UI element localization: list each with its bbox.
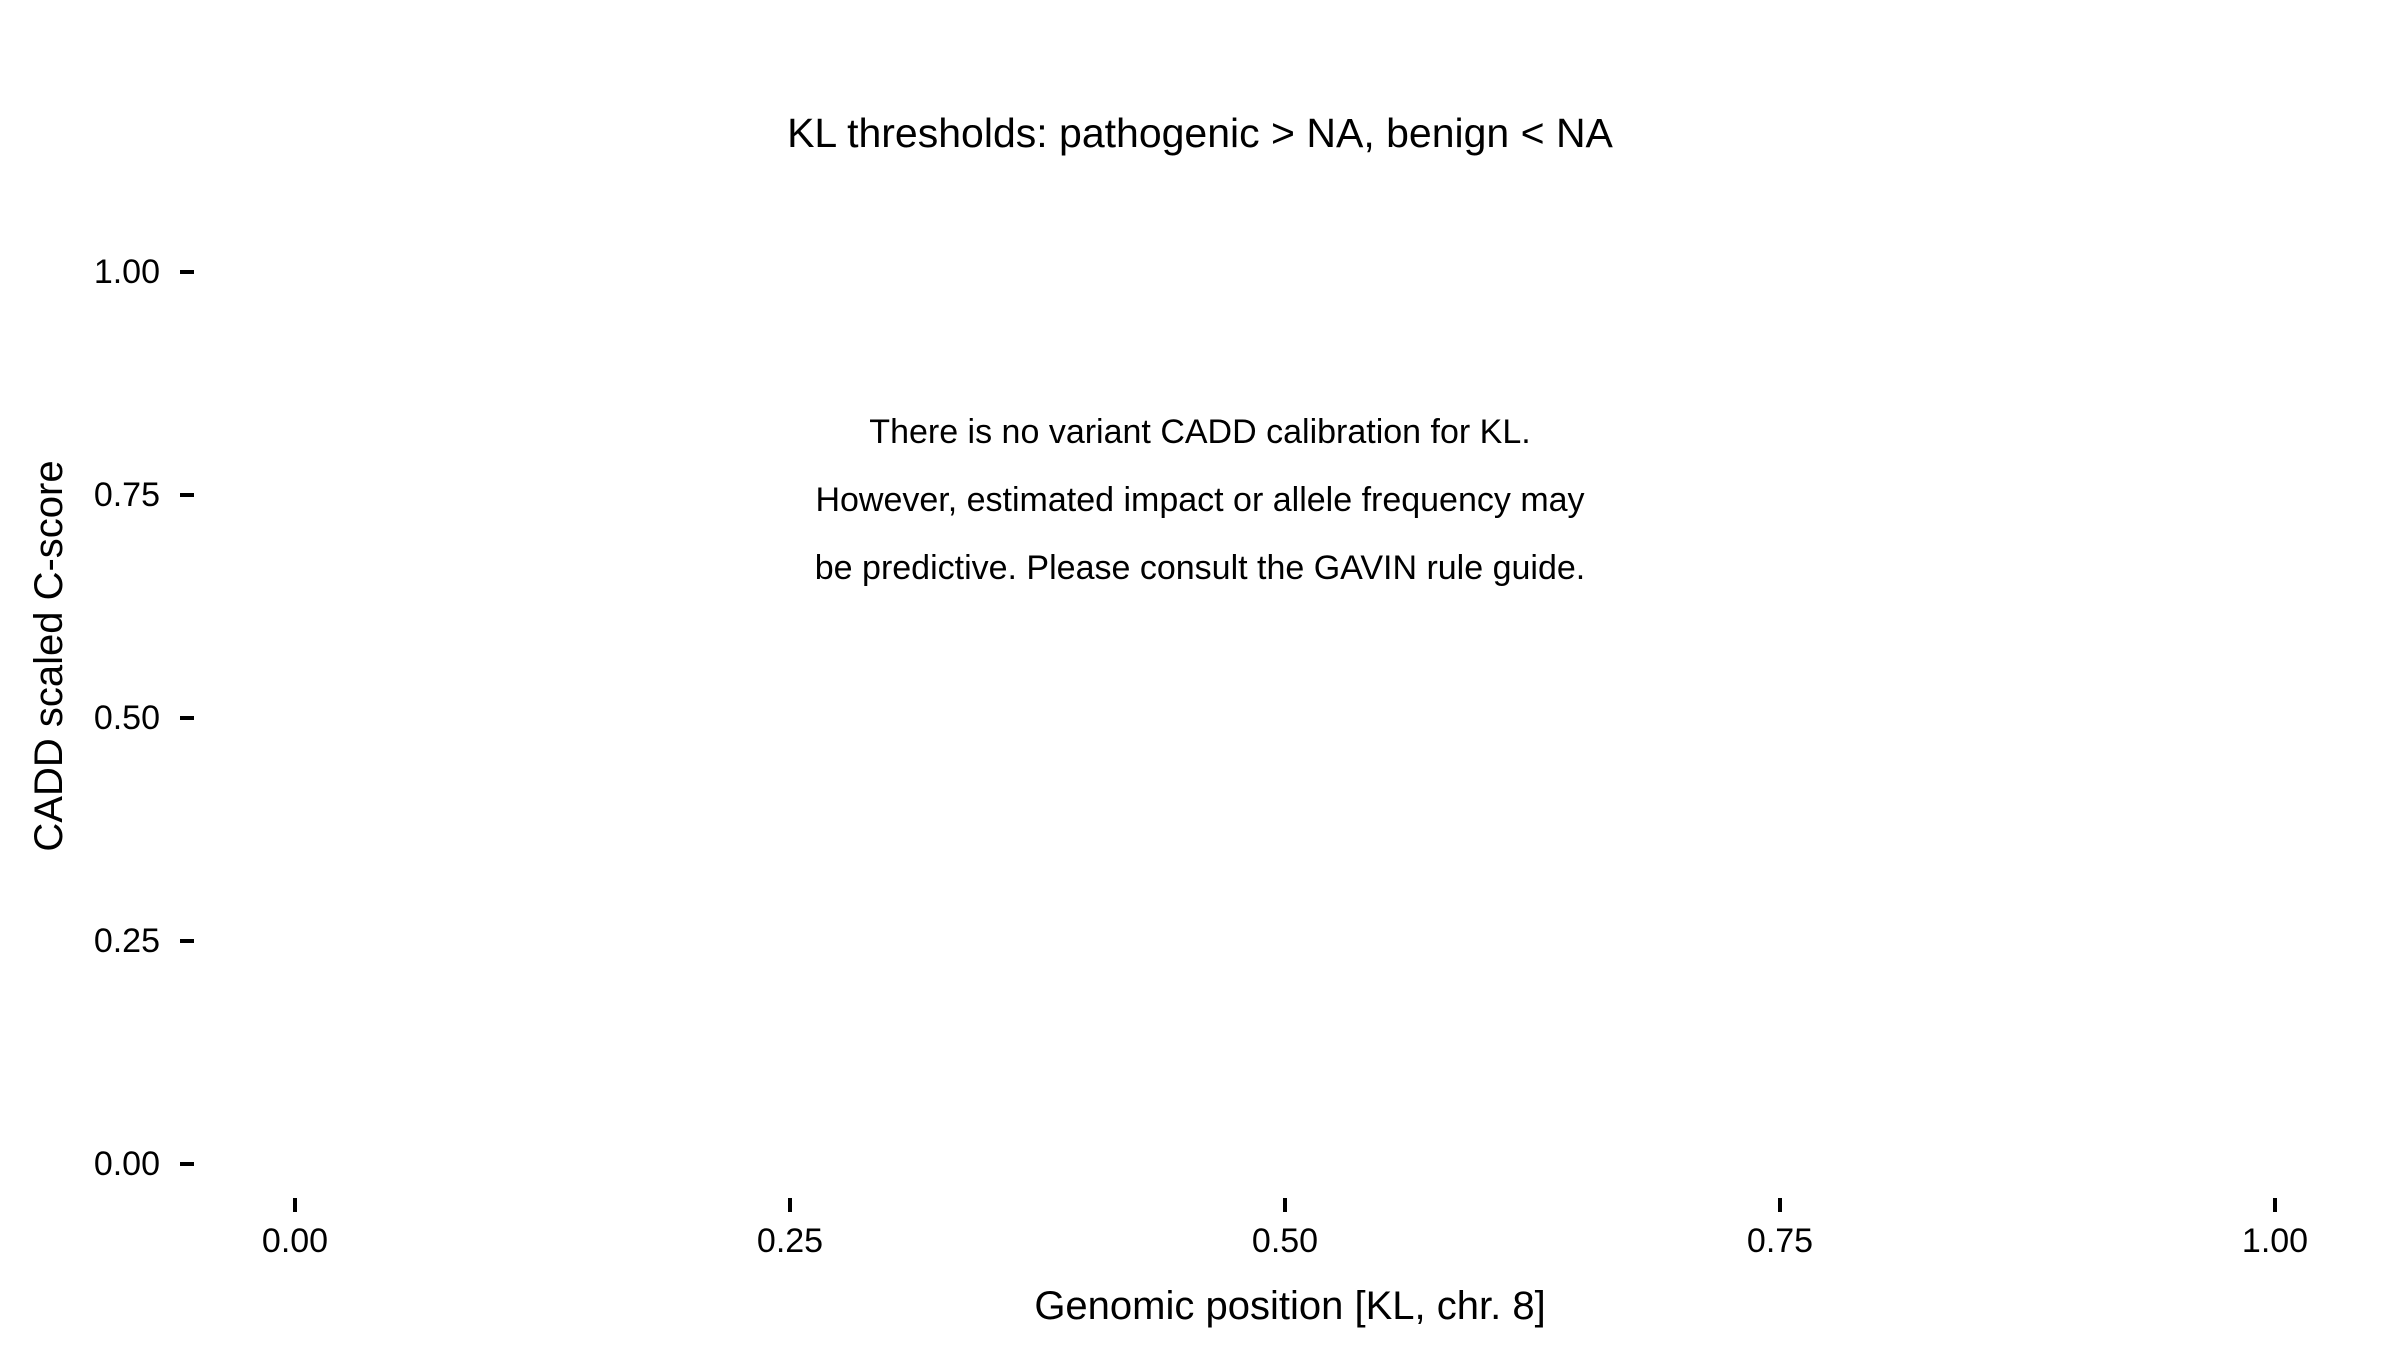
y-tick-mark-0.00	[180, 1162, 194, 1166]
x-tick-mark-1.00	[2273, 1198, 2277, 1212]
annotation-line-2: However, estimated impact or allele freq…	[0, 466, 2400, 534]
y-tick-label-1.00: 1.00	[0, 255, 160, 289]
y-tick-label-0.25: 0.25	[0, 924, 160, 958]
x-tick-label-0.00: 0.00	[195, 1222, 395, 1260]
y-tick-label-0.50: 0.50	[0, 701, 160, 735]
x-tick-mark-0.75	[1778, 1198, 1782, 1212]
y-tick-mark-0.25	[180, 939, 194, 943]
x-tick-mark-0.00	[293, 1198, 297, 1212]
y-tick-label-0.00: 0.00	[0, 1147, 160, 1181]
plot-title-line-1: KL thresholds: pathogenic > NA, benign <…	[0, 108, 2400, 159]
no-calibration-annotation: There is no variant CADD calibration for…	[0, 398, 2400, 602]
x-tick-label-0.50: 0.50	[1185, 1222, 1385, 1260]
x-tick-label-1.00: 1.00	[2175, 1222, 2375, 1260]
y-tick-mark-1.00	[180, 270, 194, 274]
x-tick-mark-0.50	[1283, 1198, 1287, 1212]
annotation-line-3: be predictive. Please consult the GAVIN …	[0, 534, 2400, 602]
x-tick-mark-0.25	[788, 1198, 792, 1212]
x-axis-title: Genomic position [KL, chr. 8]	[290, 1283, 2290, 1329]
x-tick-label-0.75: 0.75	[1680, 1222, 1880, 1260]
cadd-scatter-plot: KL thresholds: pathogenic > NA, benign <…	[0, 0, 2400, 1350]
annotation-line-1: There is no variant CADD calibration for…	[0, 398, 2400, 466]
y-tick-mark-0.50	[180, 716, 194, 720]
x-tick-label-0.25: 0.25	[690, 1222, 890, 1260]
